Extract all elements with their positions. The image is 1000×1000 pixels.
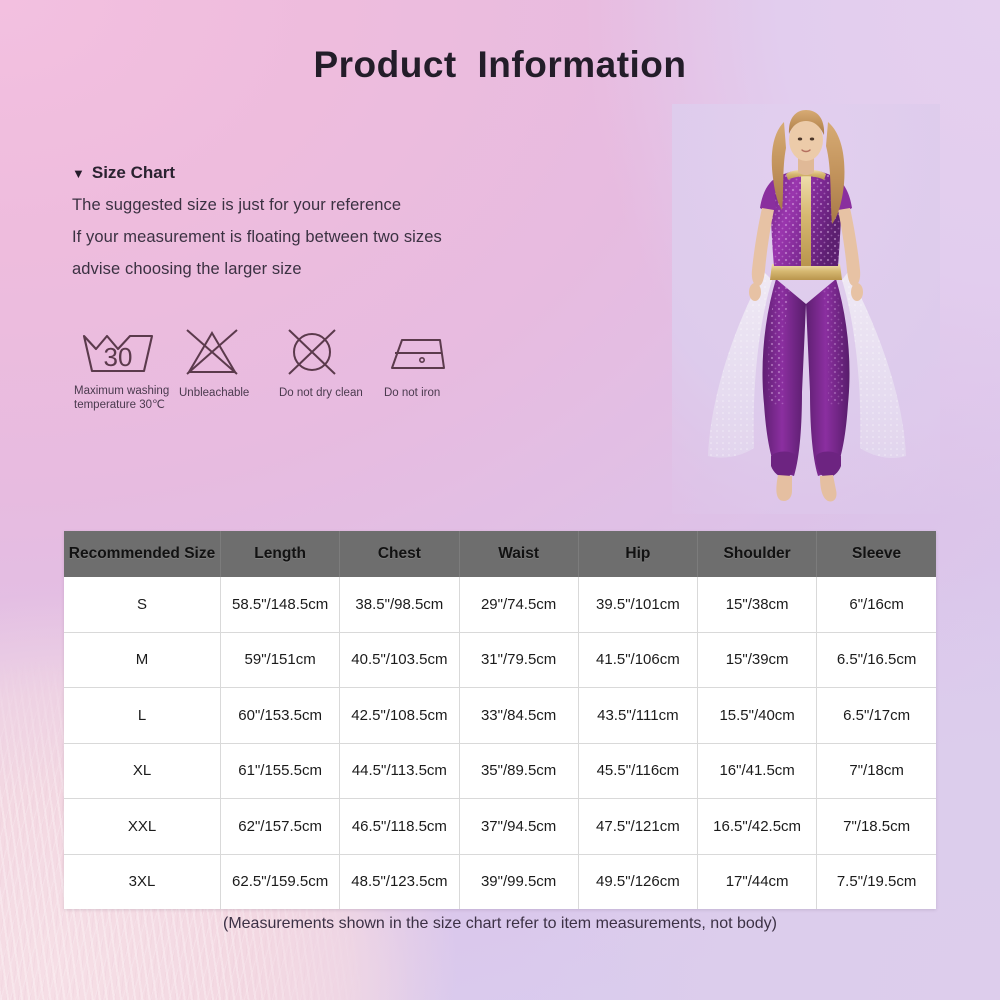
model-illustration — [672, 104, 940, 514]
table-header-recommended-size: Recommended Size — [64, 531, 221, 577]
table-header-waist: Waist — [459, 531, 578, 577]
table-header-chest: Chest — [340, 531, 459, 577]
size-chart-heading: ▼ Size Chart — [72, 163, 442, 183]
cell-waist: 37"/94.5cm — [459, 799, 578, 855]
cell-chest: 48.5"/123.5cm — [340, 854, 459, 909]
cell-waist: 39"/99.5cm — [459, 854, 578, 909]
cell-sleeve: 7.5"/19.5cm — [817, 854, 936, 909]
cell-chest: 42.5"/108.5cm — [340, 688, 459, 744]
cell-shoulder: 15"/39cm — [698, 632, 817, 688]
cell-length: 61"/155.5cm — [221, 743, 340, 799]
cell-sleeve: 6.5"/16.5cm — [817, 632, 936, 688]
cell-sleeve: 6"/16cm — [817, 577, 936, 632]
cell-hip: 39.5"/101cm — [578, 577, 697, 632]
cell-chest: 38.5"/98.5cm — [340, 577, 459, 632]
care-label-washing: Maximum washing temperature 30℃ — [74, 384, 179, 413]
cell-size: XL — [64, 743, 221, 799]
cell-shoulder: 17"/44cm — [698, 854, 817, 909]
care-item-iron: Do not iron — [384, 326, 479, 400]
care-item-washing: 30 Maximum washing temperature 30℃ — [74, 326, 179, 413]
cell-size: 3XL — [64, 854, 221, 909]
cell-size: L — [64, 688, 221, 744]
size-note-line-3: advise choosing the larger size — [72, 260, 442, 279]
cell-chest: 40.5"/103.5cm — [340, 632, 459, 688]
gold-waistband — [770, 264, 842, 280]
cell-size: M — [64, 632, 221, 688]
size-note-line-2: If your measurement is floating between … — [72, 228, 442, 247]
cell-size: S — [64, 577, 221, 632]
no-bleach-triangle-icon — [179, 326, 243, 378]
gold-placket — [801, 174, 811, 266]
cell-length: 59"/151cm — [221, 632, 340, 688]
cell-hip: 41.5"/106cm — [578, 632, 697, 688]
care-item-dry-clean: Do not dry clean — [279, 326, 384, 400]
cell-length: 62.5"/159.5cm — [221, 854, 340, 909]
cell-size: XXL — [64, 799, 221, 855]
product-photo — [672, 104, 940, 514]
size-chart-section: ▼ Size Chart The suggested size is just … — [72, 163, 442, 279]
cell-chest: 46.5"/118.5cm — [340, 799, 459, 855]
cell-shoulder: 16"/41.5cm — [698, 743, 817, 799]
cell-hip: 49.5"/126cm — [578, 854, 697, 909]
cell-sleeve: 6.5"/17cm — [817, 688, 936, 744]
cell-length: 60"/153.5cm — [221, 688, 340, 744]
size-chart-table: Recommended Size Length Chest Waist Hip … — [64, 531, 936, 909]
size-note-line-1: The suggested size is just for your refe… — [72, 196, 442, 215]
wash-tub-30-icon: 30 — [74, 326, 162, 378]
cell-waist: 31"/79.5cm — [459, 632, 578, 688]
table-row: S 58.5"/148.5cm 38.5"/98.5cm 29"/74.5cm … — [64, 577, 936, 632]
no-iron-icon — [384, 326, 452, 378]
table-row: M 59"/151cm 40.5"/103.5cm 31"/79.5cm 41.… — [64, 632, 936, 688]
table-header-length: Length — [221, 531, 340, 577]
cell-shoulder: 15.5"/40cm — [698, 688, 817, 744]
no-dry-clean-circle-icon — [279, 326, 343, 378]
measurement-footnote: (Measurements shown in the size chart re… — [0, 915, 1000, 933]
table-row: 3XL 62.5"/159.5cm 48.5"/123.5cm 39"/99.5… — [64, 854, 936, 909]
table-header-hip: Hip — [578, 531, 697, 577]
table-header-shoulder: Shoulder — [698, 531, 817, 577]
table-header-row: Recommended Size Length Chest Waist Hip … — [64, 531, 936, 577]
care-label-dry-clean: Do not dry clean — [279, 386, 363, 400]
care-item-bleach: Unbleachable — [179, 326, 279, 400]
cell-sleeve: 7"/18.5cm — [817, 799, 936, 855]
cell-waist: 33"/84.5cm — [459, 688, 578, 744]
svg-text:30: 30 — [104, 342, 133, 372]
cell-hip: 47.5"/121cm — [578, 799, 697, 855]
triangle-down-icon: ▼ — [72, 167, 85, 180]
cell-hip: 43.5"/111cm — [578, 688, 697, 744]
care-label-iron: Do not iron — [384, 386, 440, 400]
cell-length: 62"/157.5cm — [221, 799, 340, 855]
table-row: XL 61"/155.5cm 44.5"/113.5cm 35"/89.5cm … — [64, 743, 936, 799]
cell-hip: 45.5"/116cm — [578, 743, 697, 799]
size-chart-heading-label: Size Chart — [92, 163, 175, 183]
cell-length: 58.5"/148.5cm — [221, 577, 340, 632]
cell-waist: 29"/74.5cm — [459, 577, 578, 632]
cell-chest: 44.5"/113.5cm — [340, 743, 459, 799]
cell-sleeve: 7"/18cm — [817, 743, 936, 799]
table-row: XXL 62"/157.5cm 46.5"/118.5cm 37"/94.5cm… — [64, 799, 936, 855]
care-instruction-row: 30 Maximum washing temperature 30℃ Unble… — [74, 326, 479, 413]
cell-shoulder: 16.5"/42.5cm — [698, 799, 817, 855]
table-header-sleeve: Sleeve — [817, 531, 936, 577]
table-row: L 60"/153.5cm 42.5"/108.5cm 33"/84.5cm 4… — [64, 688, 936, 744]
page-title: Product Information — [0, 44, 1000, 86]
cell-shoulder: 15"/38cm — [698, 577, 817, 632]
cell-waist: 35"/89.5cm — [459, 743, 578, 799]
care-label-bleach: Unbleachable — [179, 386, 249, 400]
